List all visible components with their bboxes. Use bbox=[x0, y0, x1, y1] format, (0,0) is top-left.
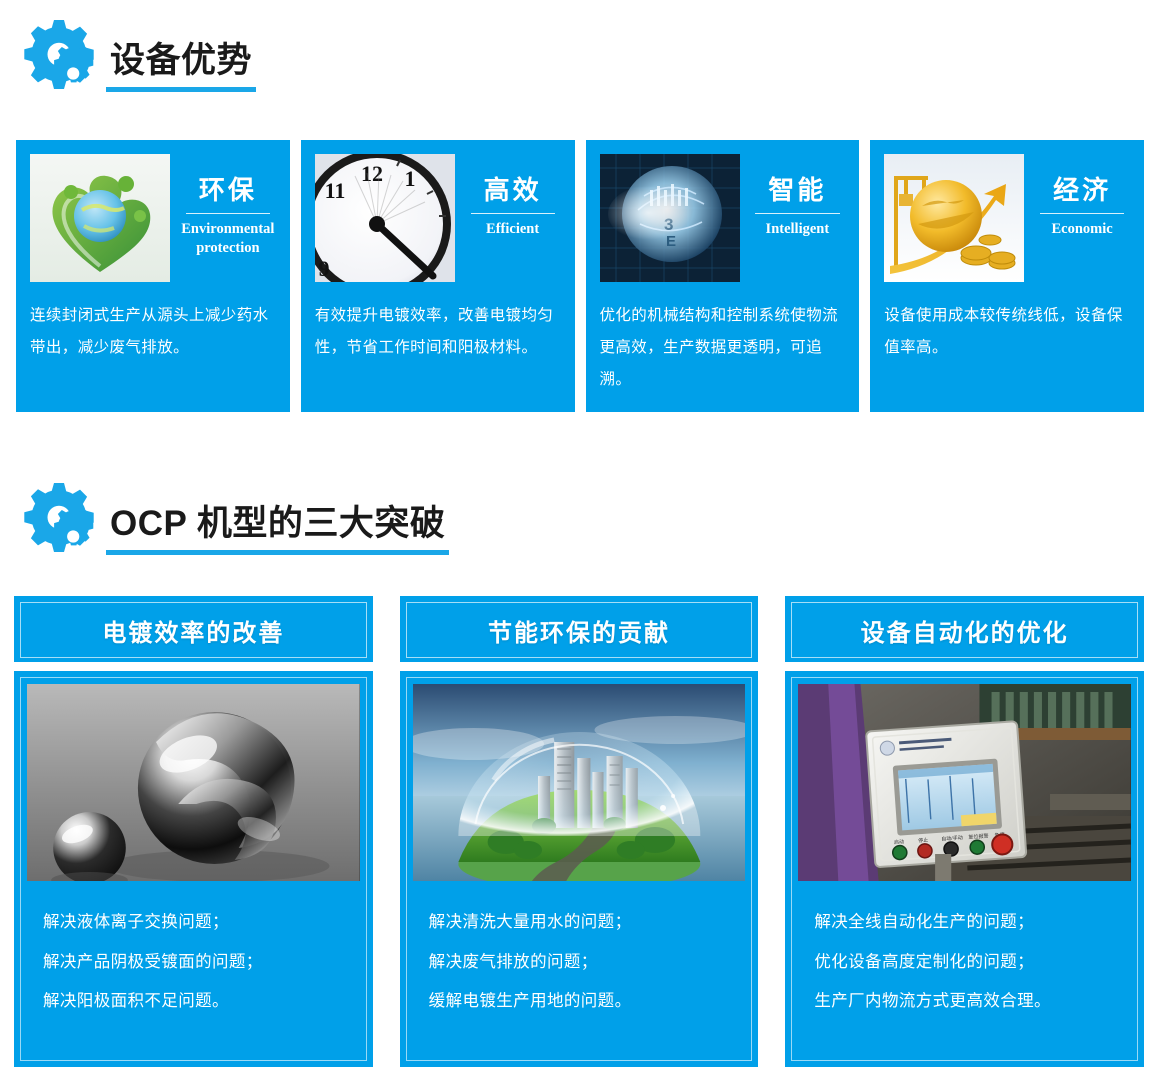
breakthrough-body-frame: 解决清洗大量用水的问题； 解决废气排放的问题； 缓解电镀生产用地的问题。 bbox=[406, 677, 753, 1061]
breakthrough-body-box: 解决液体离子交换问题； 解决产品阴极受镀面的问题； 解决阳极面积不足问题。 bbox=[14, 671, 373, 1067]
page-title-block-2: OCP 机型的三大突破 bbox=[106, 506, 449, 561]
svg-text:停止: 停止 bbox=[918, 837, 929, 845]
advantage-description: 连续封闭式生产从源头上减少药水带出，减少废气排放。 bbox=[30, 300, 276, 364]
breakthrough-point: 解决阳极面积不足问题。 bbox=[43, 982, 344, 1022]
breakthrough-point: 生产厂内物流方式更高效合理。 bbox=[814, 982, 1115, 1022]
green-city-under-dome-image bbox=[413, 684, 746, 881]
advantage-title-en: Environmental protection bbox=[180, 220, 276, 259]
breakthrough-point: 解决全线自动化生产的问题； bbox=[814, 903, 1115, 943]
page-title: OCP 机型的三大突破 bbox=[106, 506, 449, 550]
advantage-card-economic[interactable]: 经济 Economic 设备使用成本较传统线低，设备保值率高。 bbox=[870, 140, 1144, 412]
green-eco-heart-globe-image bbox=[30, 154, 170, 282]
page-title-block-1: 设备优势 bbox=[106, 43, 256, 98]
svg-text:11: 11 bbox=[324, 178, 345, 203]
hmi-control-panel-photo: 启动停止 自动/手动复位报警 急停 bbox=[798, 684, 1131, 881]
breakthrough-card-row: 电镀效率的改善 bbox=[14, 596, 1144, 1067]
breakthrough-body-box: 解决清洗大量用水的问题； 解决废气排放的问题； 缓解电镀生产用地的问题。 bbox=[400, 671, 759, 1067]
advantage-title-en: Economic bbox=[1034, 220, 1130, 240]
svg-text:复位报警: 复位报警 bbox=[969, 832, 990, 840]
advantage-card-titles: 高效 Efficient bbox=[455, 154, 561, 239]
breakthrough-title-box: 节能环保的贡献 bbox=[400, 596, 759, 662]
section-header-equipment-advantages: 设备优势 bbox=[14, 14, 256, 98]
advantage-title-en: Intelligent bbox=[750, 220, 846, 240]
advantage-description: 设备使用成本较传统线低，设备保值率高。 bbox=[884, 300, 1130, 364]
advantage-description: 优化的机械结构和控制系统使物流更高效，生产数据更透明，可追溯。 bbox=[600, 300, 846, 395]
advantage-card-head: 经济 Economic bbox=[884, 154, 1130, 282]
breakthrough-point: 解决产品阴极受镀面的问题； bbox=[43, 943, 344, 983]
advantage-title-cn: 经济 bbox=[1034, 176, 1130, 206]
clock-face-image: 12 11 1 9 bbox=[315, 154, 455, 282]
breakthrough-title-frame: 设备自动化的优化 bbox=[791, 602, 1138, 658]
svg-text:9: 9 bbox=[318, 256, 329, 281]
advantage-card-head: 3 E 智能 Intelligent bbox=[600, 154, 846, 282]
breakthrough-point: 解决液体离子交换问题； bbox=[43, 903, 344, 943]
advantage-card-environmental[interactable]: 环保 Environmental protection 连续封闭式生产从源头上减… bbox=[16, 140, 290, 412]
breakthrough-title-frame: 节能环保的贡献 bbox=[406, 602, 753, 658]
breakthrough-point: 解决废气排放的问题； bbox=[429, 943, 730, 983]
advantage-card-row: 环保 Environmental protection 连续封闭式生产从源头上减… bbox=[16, 140, 1144, 412]
chrome-abstract-spheres-image bbox=[27, 684, 360, 881]
breakthrough-title-box: 设备自动化的优化 bbox=[785, 596, 1144, 662]
advantage-description: 有效提升电镀效率，改善电镀均匀性，节省工作时间和阳极材料。 bbox=[315, 300, 561, 364]
section-header-ocp-breakthroughs: OCP 机型的三大突破 bbox=[14, 477, 449, 561]
breakthrough-card-plating-efficiency[interactable]: 电镀效率的改善 bbox=[14, 596, 373, 1067]
svg-text:1: 1 bbox=[404, 166, 415, 191]
advantage-card-efficient[interactable]: 12 11 1 9 bbox=[301, 140, 575, 412]
advantage-title-cn: 环保 bbox=[180, 176, 276, 206]
breakthrough-title: 节能环保的贡献 bbox=[488, 613, 670, 648]
gears-icon bbox=[14, 477, 106, 561]
title-underline bbox=[106, 550, 449, 555]
advantage-title-en: Efficient bbox=[465, 220, 561, 240]
advantage-card-titles: 经济 Economic bbox=[1024, 154, 1130, 239]
title-divider bbox=[1040, 213, 1124, 214]
gold-globe-arrow-coins-image bbox=[884, 154, 1024, 282]
title-divider bbox=[186, 213, 270, 214]
breakthrough-points: 解决清洗大量用水的问题； 解决废气排放的问题； 缓解电镀生产用地的问题。 bbox=[413, 881, 746, 1022]
page-title: 设备优势 bbox=[106, 43, 256, 87]
breakthrough-body-frame: 启动停止 自动/手动复位报警 急停 bbox=[791, 677, 1138, 1061]
breakthrough-title: 电镀效率的改善 bbox=[102, 613, 284, 648]
advantage-card-intelligent[interactable]: 3 E 智能 Intelligent 优化的机械结构和控制系统使物流更高效，生产… bbox=[586, 140, 860, 412]
breakthrough-title-frame: 电镀效率的改善 bbox=[20, 602, 367, 658]
breakthrough-card-energy-saving[interactable]: 节能环保的贡献 bbox=[400, 596, 759, 1067]
gears-icon bbox=[14, 14, 106, 98]
title-divider bbox=[471, 213, 555, 214]
advantage-title-cn: 高效 bbox=[465, 176, 561, 206]
title-underline bbox=[106, 87, 256, 92]
breakthrough-title-box: 电镀效率的改善 bbox=[14, 596, 373, 662]
advantage-card-head: 12 11 1 9 bbox=[315, 154, 561, 282]
breakthrough-point: 优化设备高度定制化的问题； bbox=[814, 943, 1115, 983]
breakthrough-point: 缓解电镀生产用地的问题。 bbox=[429, 982, 730, 1022]
breakthrough-body-box: 启动停止 自动/手动复位报警 急停 bbox=[785, 671, 1144, 1067]
advantage-title-cn: 智能 bbox=[750, 176, 846, 206]
advantage-card-titles: 智能 Intelligent bbox=[740, 154, 846, 239]
advantage-card-head: 环保 Environmental protection bbox=[30, 154, 276, 282]
svg-text:启动: 启动 bbox=[894, 838, 905, 846]
breakthrough-body-frame: 解决液体离子交换问题； 解决产品阴极受镀面的问题； 解决阳极面积不足问题。 bbox=[20, 677, 367, 1061]
breakthrough-card-automation[interactable]: 设备自动化的优化 bbox=[785, 596, 1144, 1067]
svg-text:12: 12 bbox=[361, 161, 383, 186]
title-divider bbox=[755, 213, 839, 214]
breakthrough-title: 设备自动化的优化 bbox=[861, 613, 1069, 648]
breakthrough-points: 解决全线自动化生产的问题； 优化设备高度定制化的问题； 生产厂内物流方式更高效合… bbox=[798, 881, 1131, 1022]
digital-brain-technology-image: 3 E bbox=[600, 154, 740, 282]
advantage-card-titles: 环保 Environmental protection bbox=[170, 154, 276, 259]
breakthrough-point: 解决清洗大量用水的问题； bbox=[429, 903, 730, 943]
breakthrough-points: 解决液体离子交换问题； 解决产品阴极受镀面的问题； 解决阳极面积不足问题。 bbox=[27, 881, 360, 1022]
